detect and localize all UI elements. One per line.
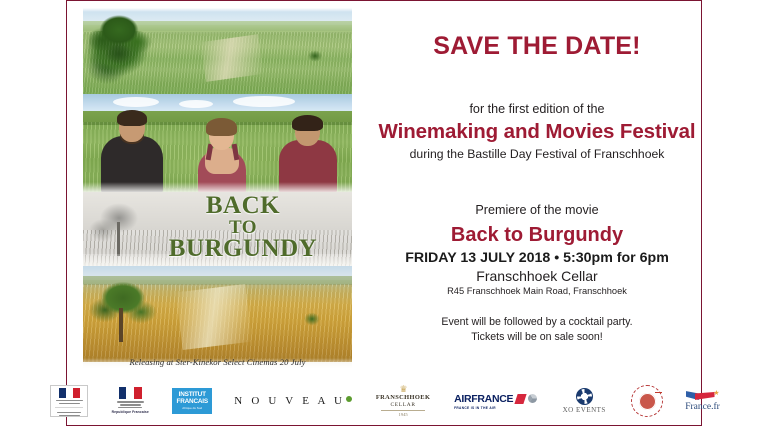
autumn-tree-icon — [89, 278, 167, 344]
globe-icon — [639, 393, 656, 410]
festival-context: during the Bastille Day Festival of Fran… — [372, 147, 702, 161]
air-france-tagline: FRANCE IS IN THE AIR — [454, 406, 496, 410]
invitation-details: SAVE THE DATE! for the first edition of … — [372, 0, 702, 372]
movie-title: Back to Burgundy — [372, 224, 702, 247]
french-flag-icon — [59, 388, 80, 398]
character-center-hair — [206, 118, 237, 136]
institut-francais-icon: INSTITUT FRANCAIS Afrique du Sud — [172, 388, 212, 414]
franschhoek-cellar-year: 1945 — [374, 412, 432, 417]
poster-photo-summer-vineyard — [83, 8, 352, 96]
republique-francaise-icon: Republique Francaise — [110, 386, 150, 416]
autumn-tree-trunk — [119, 308, 123, 342]
logo-air-france: AIRFRANCE FRANCE IS IN THE AIR — [454, 393, 537, 410]
event-venue: Franschhoek Cellar — [372, 268, 702, 284]
intro-line: for the first edition of the — [372, 102, 702, 116]
xo-events-wordmark: XO EVENTS — [559, 406, 609, 414]
autumn-small-tree-icon — [301, 310, 323, 328]
logo-caption: Republique Francaise — [112, 410, 149, 414]
pointer-icon — [655, 392, 662, 393]
event-note-line-2: Tickets will be on sale soon! — [372, 331, 702, 343]
save-the-date-headline: SAVE THE DATE! — [372, 32, 702, 61]
sponsor-logo-strip: Republique Francaise INSTITUT FRANCAIS A… — [70, 378, 700, 424]
release-note: Releasing at Ster-Kinekor Select Cinemas… — [83, 357, 352, 367]
character-left-hair — [117, 110, 147, 126]
air-france-wordmark: AIRFRANCE — [454, 393, 513, 405]
tourism-roundel-icon — [631, 385, 663, 417]
nouveau-wordmark: N O U V E A U — [234, 395, 345, 407]
logo-france-fr: ★ France.fr — [685, 390, 720, 412]
premiere-label: Premiere of the movie — [372, 203, 702, 217]
poster-photo-three-characters — [83, 94, 352, 194]
logo-atout-france — [631, 385, 663, 417]
summer-tree-icon — [89, 12, 161, 74]
poster-title-line-3: BURGUNDY — [135, 237, 351, 262]
event-datetime: FRIDAY 13 JULY 2018 • 5:30pm for 6pm — [372, 250, 702, 266]
divider — [381, 410, 425, 411]
logo-xo-events: XO EVENTS — [559, 388, 609, 414]
winter-tree-trunk — [117, 222, 120, 256]
air-france-seahorse-icon — [528, 394, 537, 403]
logo-french-embassy — [50, 385, 88, 417]
xo-events-mark-icon — [576, 388, 593, 405]
institut-francais-line-2: FRANCAIS — [177, 399, 208, 405]
crest-icon: ♛ — [374, 385, 432, 394]
event-address: R45 Franschhoek Main Road, Franschhoek — [372, 286, 702, 296]
cloud-icon — [113, 97, 159, 107]
republique-wordmark — [115, 401, 145, 408]
movie-poster-image: BACK TO BURGUNDY — [83, 8, 352, 368]
french-embassy-wordmark — [54, 400, 84, 416]
institut-francais-line-3: Afrique du Sud — [182, 407, 202, 410]
event-note-line-1: Event will be followed by a cocktail par… — [372, 316, 702, 328]
poster-band-edge — [83, 8, 352, 12]
logo-republique-francaise: Republique Francaise — [110, 386, 150, 416]
logo-franschhoek-cellar: ♛ FRANSCHHOEK CELLAR 1945 — [374, 385, 432, 417]
invitation-canvas: BACK TO BURGUNDY Releasing at Ster-Kinek… — [0, 0, 768, 432]
franschhoek-cellar-line-1: FRANSCHHOEK — [374, 394, 432, 402]
autumn-path — [176, 284, 253, 350]
poster-title-line-1: BACK — [135, 194, 351, 219]
festival-name: Winemaking and Movies Festival — [372, 120, 702, 144]
logo-institut-francais: INSTITUT FRANCAIS Afrique du Sud — [172, 388, 212, 414]
poster-title: BACK TO BURGUNDY — [135, 194, 351, 262]
french-embassy-icon — [50, 385, 88, 417]
nouveau-dot-icon — [346, 396, 352, 402]
air-france-slash-icon — [515, 394, 527, 404]
france-fr-wordmark: France.fr — [685, 402, 720, 412]
summer-path — [200, 34, 263, 82]
franschhoek-cellar-line-2: CELLAR — [374, 402, 432, 409]
cloud-icon — [233, 96, 295, 107]
character-right-hair — [292, 115, 323, 131]
logo-nouveau: N O U V E A U — [234, 395, 352, 407]
french-flag-icon — [119, 387, 142, 399]
summer-small-tree-icon — [305, 48, 325, 64]
france-fr-swoosh-icon: ★ — [686, 390, 720, 402]
cloud-icon — [179, 100, 213, 108]
